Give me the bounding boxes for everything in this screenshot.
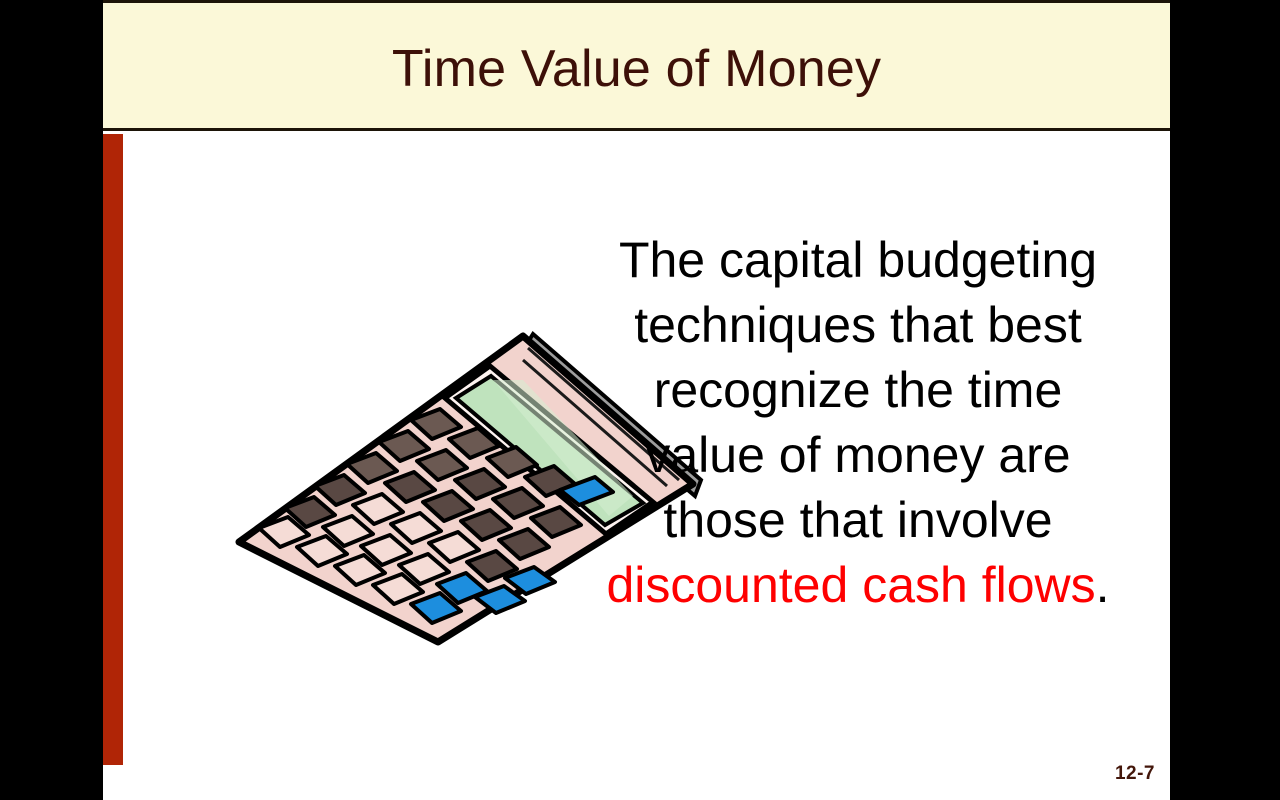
body-line: recognize the time bbox=[558, 358, 1158, 423]
page-number: 12-7 bbox=[103, 763, 1155, 785]
left-accent-bar bbox=[103, 134, 123, 765]
body-line: techniques that best bbox=[558, 293, 1158, 358]
body-line: value of money are bbox=[558, 423, 1158, 488]
title-banner: Time Value of Money bbox=[103, 0, 1170, 131]
terminal-period: . bbox=[1096, 557, 1110, 613]
page-title: Time Value of Money bbox=[103, 3, 1170, 134]
body-text-block: The capital budgeting techniques that be… bbox=[558, 228, 1158, 618]
slide-canvas: Time Value of Money bbox=[103, 0, 1170, 800]
body-line: those that involve bbox=[558, 488, 1158, 553]
body-line-emphasis: discounted cash flows. bbox=[558, 553, 1158, 618]
emphasis-term: discounted cash flows bbox=[606, 557, 1095, 613]
body-line: The capital budgeting bbox=[558, 228, 1158, 293]
slide-stage: Time Value of Money bbox=[0, 0, 1280, 800]
